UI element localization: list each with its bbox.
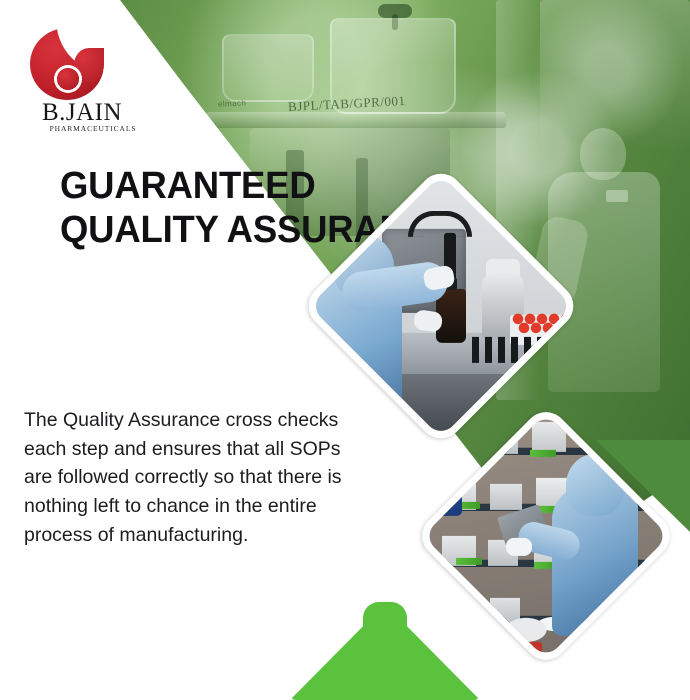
logo-dot-shape	[57, 68, 79, 90]
warehouse-worker-glove	[506, 538, 532, 556]
bjain-flame-circle-logo-icon	[30, 28, 108, 100]
green-triangle-rounded-apex	[363, 602, 407, 628]
brand-logo: B.JAIN PHARMACEUTICALS	[22, 28, 142, 138]
machine-deck	[206, 112, 506, 128]
brand-tagline: PHARMACEUTICALS	[22, 124, 142, 133]
secondary-hopper	[222, 34, 314, 102]
background-worker-badge	[606, 190, 628, 202]
brand-name: B.JAIN	[22, 100, 142, 125]
cleanroom-wall	[540, 0, 690, 150]
quality-assurance-poster: elmach BJPL/TAB/GPR/001 B.JAIN PHARMACEU…	[0, 0, 690, 700]
headline-line-1: GUARANTEED	[60, 165, 315, 207]
body-paragraph: The Quality Assurance cross checks each …	[24, 406, 364, 549]
equipment-brand-label: elmach	[218, 98, 247, 108]
